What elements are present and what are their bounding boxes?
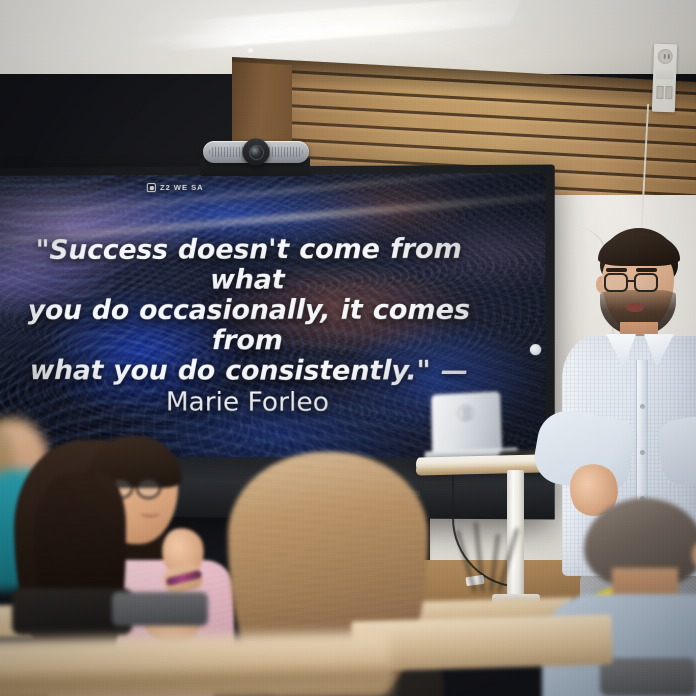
chair-grey[interactable] [112, 592, 208, 626]
student-smile [140, 510, 160, 517]
camera-lens-housing [243, 139, 270, 166]
shirt-button [640, 404, 645, 409]
outlet-mid-module [656, 68, 673, 80]
wall-outlet-plate[interactable] [652, 44, 677, 113]
camera-lens-icon [249, 145, 264, 160]
presenter-mouth [626, 303, 644, 312]
eyeglasses-bridge [132, 486, 138, 488]
presenter-hair-front [598, 232, 680, 266]
ceiling-downlight-icon [247, 48, 254, 53]
power-socket-icon [657, 49, 673, 65]
laptop[interactable] [423, 392, 505, 462]
eyeglasses-left-lens-icon [604, 273, 628, 292]
chair-grey-right[interactable] [600, 658, 696, 696]
hp-logo-icon [458, 405, 474, 421]
shirt-button [640, 450, 645, 455]
laptop-lid [431, 392, 502, 456]
eyeglasses-right-lens-icon [136, 478, 161, 499]
eyeglasses-right-lens-icon [634, 273, 658, 292]
decor-branches [470, 520, 510, 592]
photo-scene: Z2 WE SA "Success doesn't come from what… [0, 0, 696, 696]
usb-port-icon [656, 86, 663, 99]
eyeglasses-bridge [627, 280, 636, 282]
table-mid [351, 614, 612, 671]
video-conference-camera[interactable] [203, 141, 309, 163]
